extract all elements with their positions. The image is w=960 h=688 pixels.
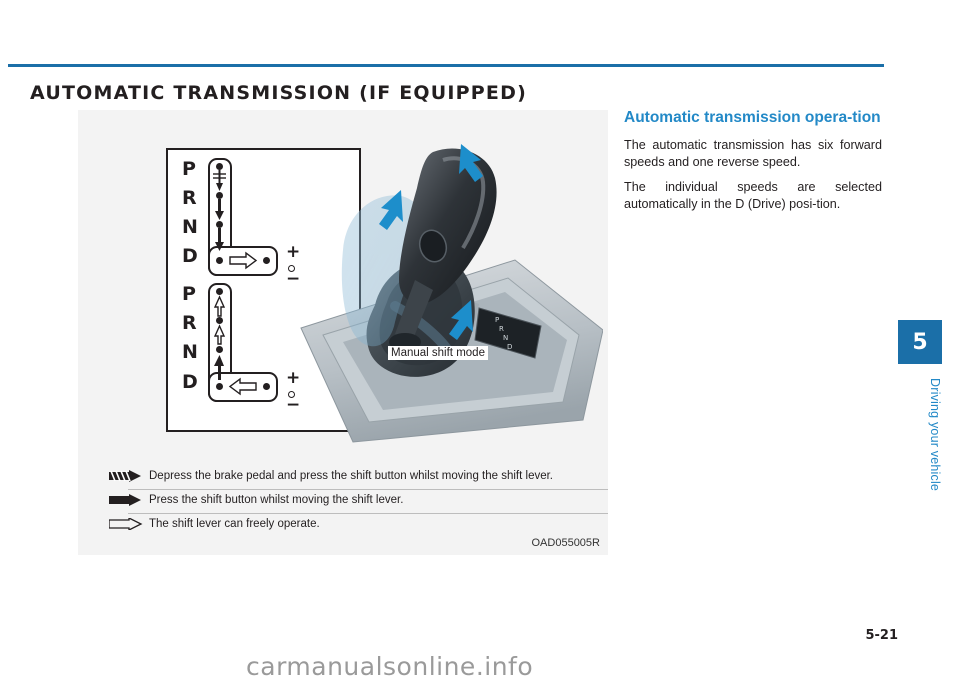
page-title: AUTOMATIC TRANSMISSION (IF EQUIPPED) [30, 82, 527, 104]
arrow-p-to-r-upper [213, 170, 226, 191]
svg-text:D: D [507, 343, 512, 351]
legend-divider-2 [128, 513, 608, 514]
arrow-manual-to-d-lower [230, 379, 256, 394]
arrow-n-to-d-upper [215, 228, 224, 251]
striped-arrow-icon [103, 470, 149, 482]
header-rule [8, 64, 884, 67]
chapter-number-tab: 5 [898, 320, 942, 364]
legend-text: Press the shift button whilst moving the… [149, 494, 403, 506]
figure-legend: Depress the brake pedal and press the sh… [103, 465, 583, 537]
watermark: carmanualsonline.info [246, 652, 533, 681]
legend-item: The shift lever can freely operate. [103, 513, 583, 535]
arrow-r-to-n-upper [215, 199, 224, 220]
legend-text: Depress the brake pedal and press the sh… [149, 470, 553, 482]
legend-divider-1 [128, 489, 608, 490]
page-number: 5-21 [865, 628, 898, 643]
figure-caption: OAD055005R [532, 537, 601, 549]
manual-page: AUTOMATIC TRANSMISSION (IF EQUIPPED) P R… [0, 0, 960, 688]
shift-lever-svg: P R N D [283, 130, 603, 460]
svg-text:R: R [499, 325, 504, 333]
arrow-d-to-manual-upper [230, 253, 256, 268]
svg-text:N: N [503, 334, 508, 342]
section-heading: Automatic transmission opera-tion [624, 108, 882, 127]
solid-arrow-icon [103, 494, 149, 506]
body-column: Automatic transmission opera-tion The au… [624, 108, 882, 221]
body-paragraph: The automatic transmission has six forwa… [624, 137, 882, 171]
manual-shift-mode-label: Manual shift mode [388, 346, 488, 360]
figure-panel: P R N D P R N D + − [78, 110, 608, 555]
svg-text:P: P [495, 316, 499, 324]
legend-item: Press the shift button whilst moving the… [103, 489, 583, 511]
body-paragraph: The individual speeds are selected autom… [624, 179, 882, 213]
outline-arrow-icon [103, 518, 149, 530]
arrow-d-to-n-lower [214, 355, 224, 380]
arrow-r-to-p-lower [215, 297, 224, 316]
shift-lever-illustration: P R N D [283, 130, 603, 460]
arrow-n-to-r-lower [215, 326, 224, 344]
legend-text: The shift lever can freely operate. [149, 518, 320, 530]
legend-item: Depress the brake pedal and press the sh… [103, 465, 583, 487]
chapter-label: Driving your vehicle [898, 378, 942, 491]
